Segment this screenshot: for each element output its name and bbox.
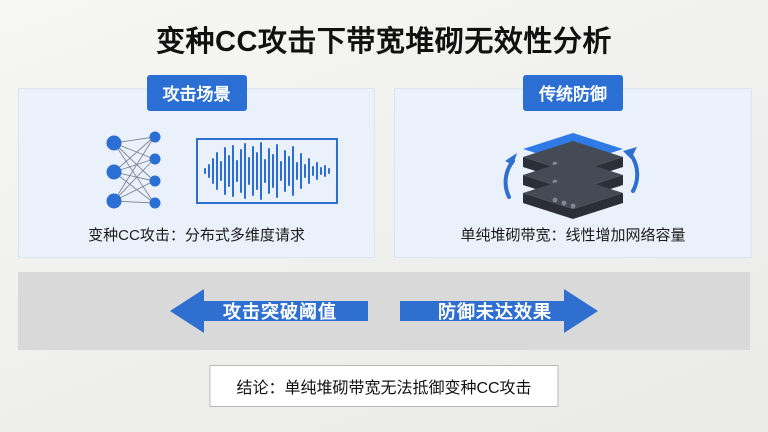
conclusion-box: 结论：单纯堆砌带宽无法抵御变种CC攻击	[209, 365, 558, 407]
panel-caption-defense: 单纯堆砌带宽：线性增加网络容量	[395, 224, 751, 245]
server-stack-icon	[395, 117, 751, 227]
panel-header-attack: 攻击场景	[147, 75, 247, 111]
panel-attack-scenario: 攻击场景	[18, 88, 375, 258]
panel-caption-attack: 变种CC攻击：分布式多维度请求	[19, 224, 374, 245]
slide-root: 变种CC攻击下带宽堆砌无效性分析 攻击场景	[0, 0, 768, 432]
page-title: 变种CC攻击下带宽堆砌无效性分析	[0, 18, 768, 60]
arrow-label-right: 防御未达效果	[438, 298, 552, 324]
panel-header-defense: 传统防御	[523, 75, 623, 111]
attack-scenario-graphic	[19, 117, 374, 227]
arrow-row: 攻击突破阈值 防御未达效果	[18, 272, 750, 350]
panel-traditional-defense: 传统防御	[394, 88, 752, 258]
traditional-defense-graphic	[395, 117, 751, 227]
band-arrows	[18, 272, 750, 350]
neural-network-and-waveform-icon	[19, 117, 374, 227]
comparison-band: 攻击突破阈值 防御未达效果	[18, 272, 750, 350]
arrow-label-left: 攻击突破阈值	[223, 298, 337, 324]
